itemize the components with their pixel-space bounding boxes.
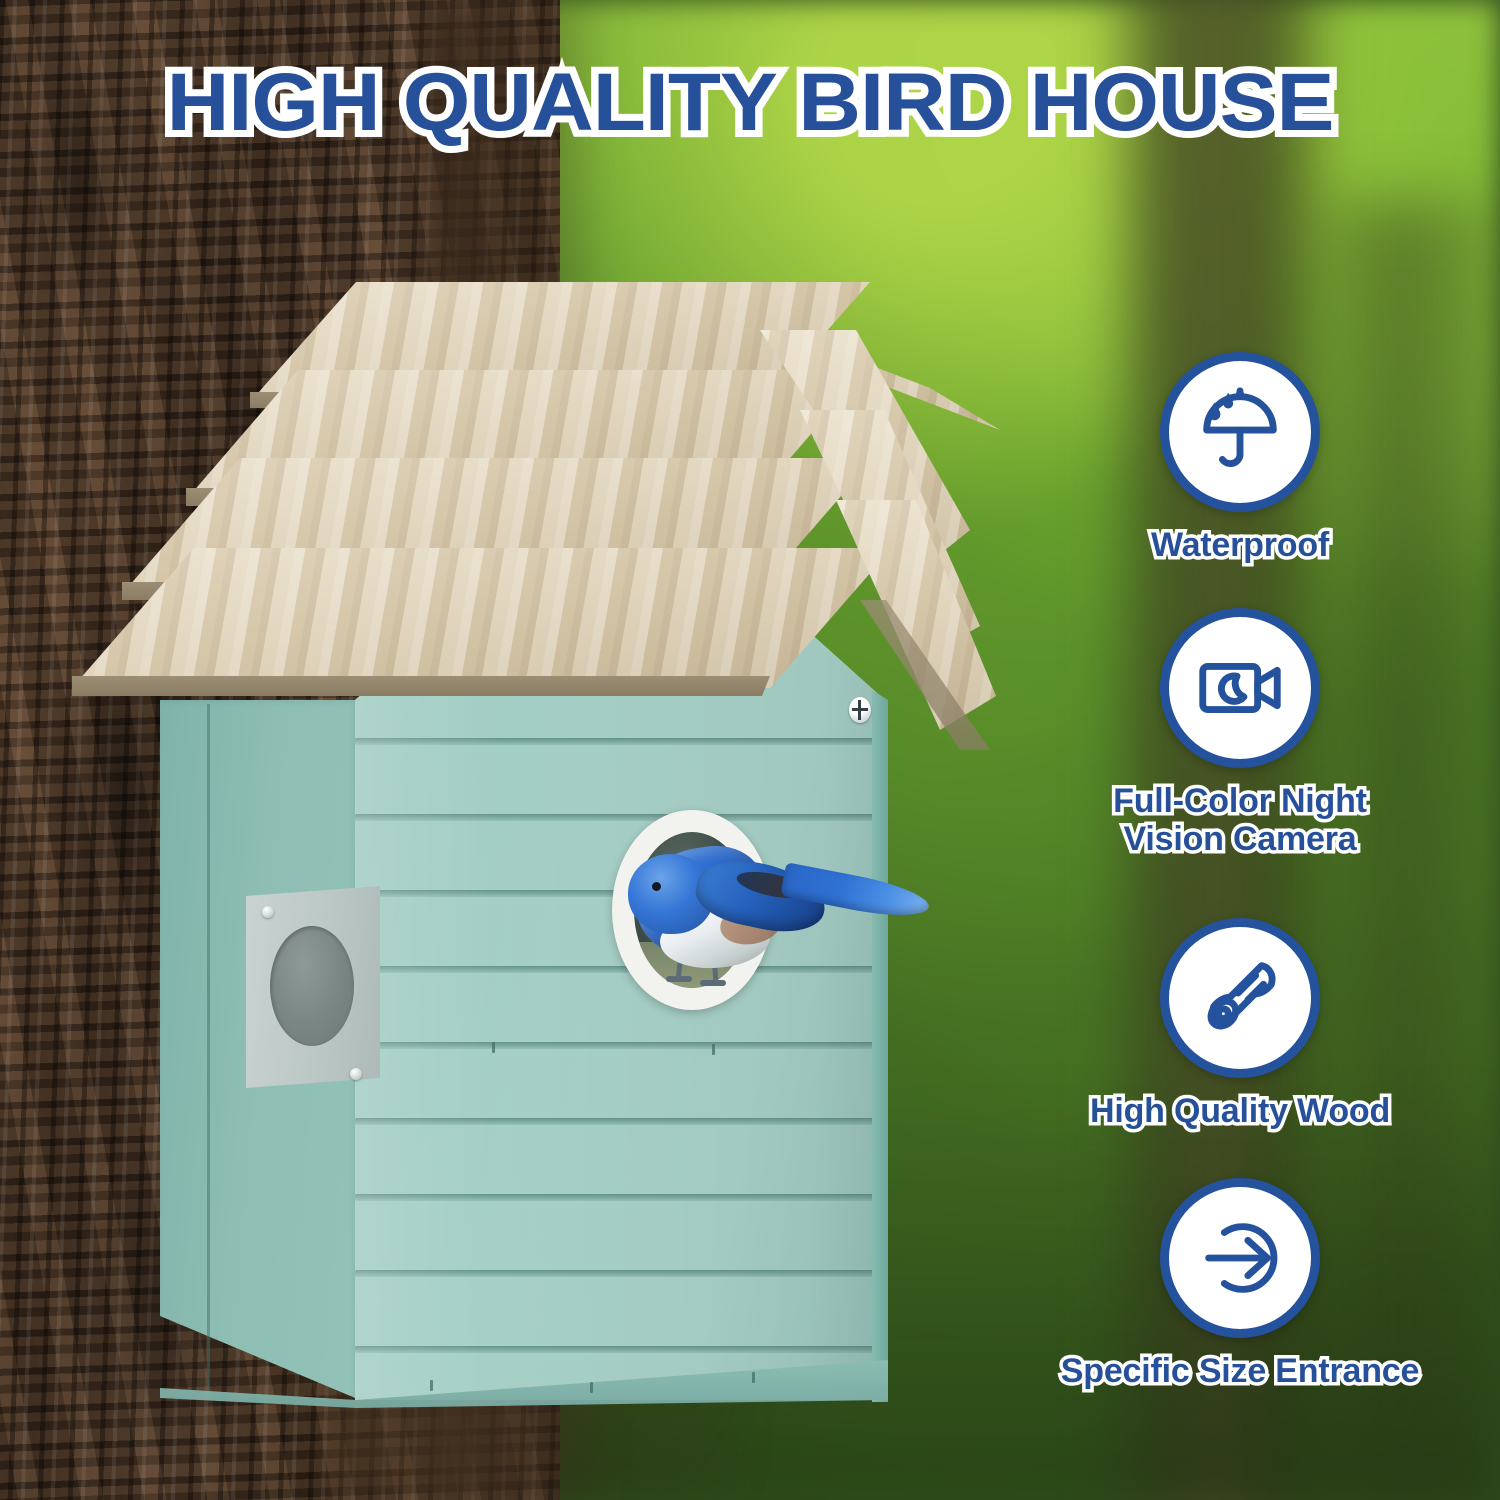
- feature-specific-size-entrance[interactable]: Specific Size Entrance: [1040, 1178, 1440, 1390]
- entrance-arrow-icon: [1160, 1178, 1320, 1338]
- roof-right-course-2: [800, 410, 980, 660]
- feature-high-quality-wood[interactable]: High Quality Wood: [1040, 918, 1440, 1130]
- house-side-seam: [207, 704, 210, 1394]
- feature-label: Waterproof: [1040, 526, 1440, 564]
- feature-label: High Quality Wood: [1040, 1092, 1440, 1130]
- bird: [600, 838, 920, 1008]
- umbrella-rain-icon: [1160, 352, 1320, 512]
- house-right-edge: [872, 690, 888, 1402]
- feature-label: Full-Color Night Vision Camera: [1040, 782, 1440, 858]
- roof-right-course-1: [760, 330, 970, 570]
- feature-night-vision-camera[interactable]: Full-Color Night Vision Camera: [1040, 608, 1440, 858]
- feature-waterproof[interactable]: Waterproof: [1040, 352, 1440, 564]
- page-title: HIGH QUALITY BIRD HOUSE: [0, 62, 1500, 144]
- gable-screw-icon: [849, 697, 871, 723]
- feature-label: Specific Size Entrance: [1040, 1352, 1440, 1390]
- camera-port-hole: [270, 926, 354, 1046]
- roof-course-1: [250, 282, 870, 402]
- night-vision-camera-icon: [1160, 608, 1320, 768]
- port-screw-top: [262, 906, 274, 918]
- bird-eye: [652, 882, 661, 891]
- product-image-canvas: HIGH QUALITY BIRD HOUSE Waterproof: [0, 0, 1500, 1500]
- roof-course-2: [186, 370, 866, 500]
- port-screw-bottom: [350, 1068, 362, 1080]
- wood-log-icon: [1160, 918, 1320, 1078]
